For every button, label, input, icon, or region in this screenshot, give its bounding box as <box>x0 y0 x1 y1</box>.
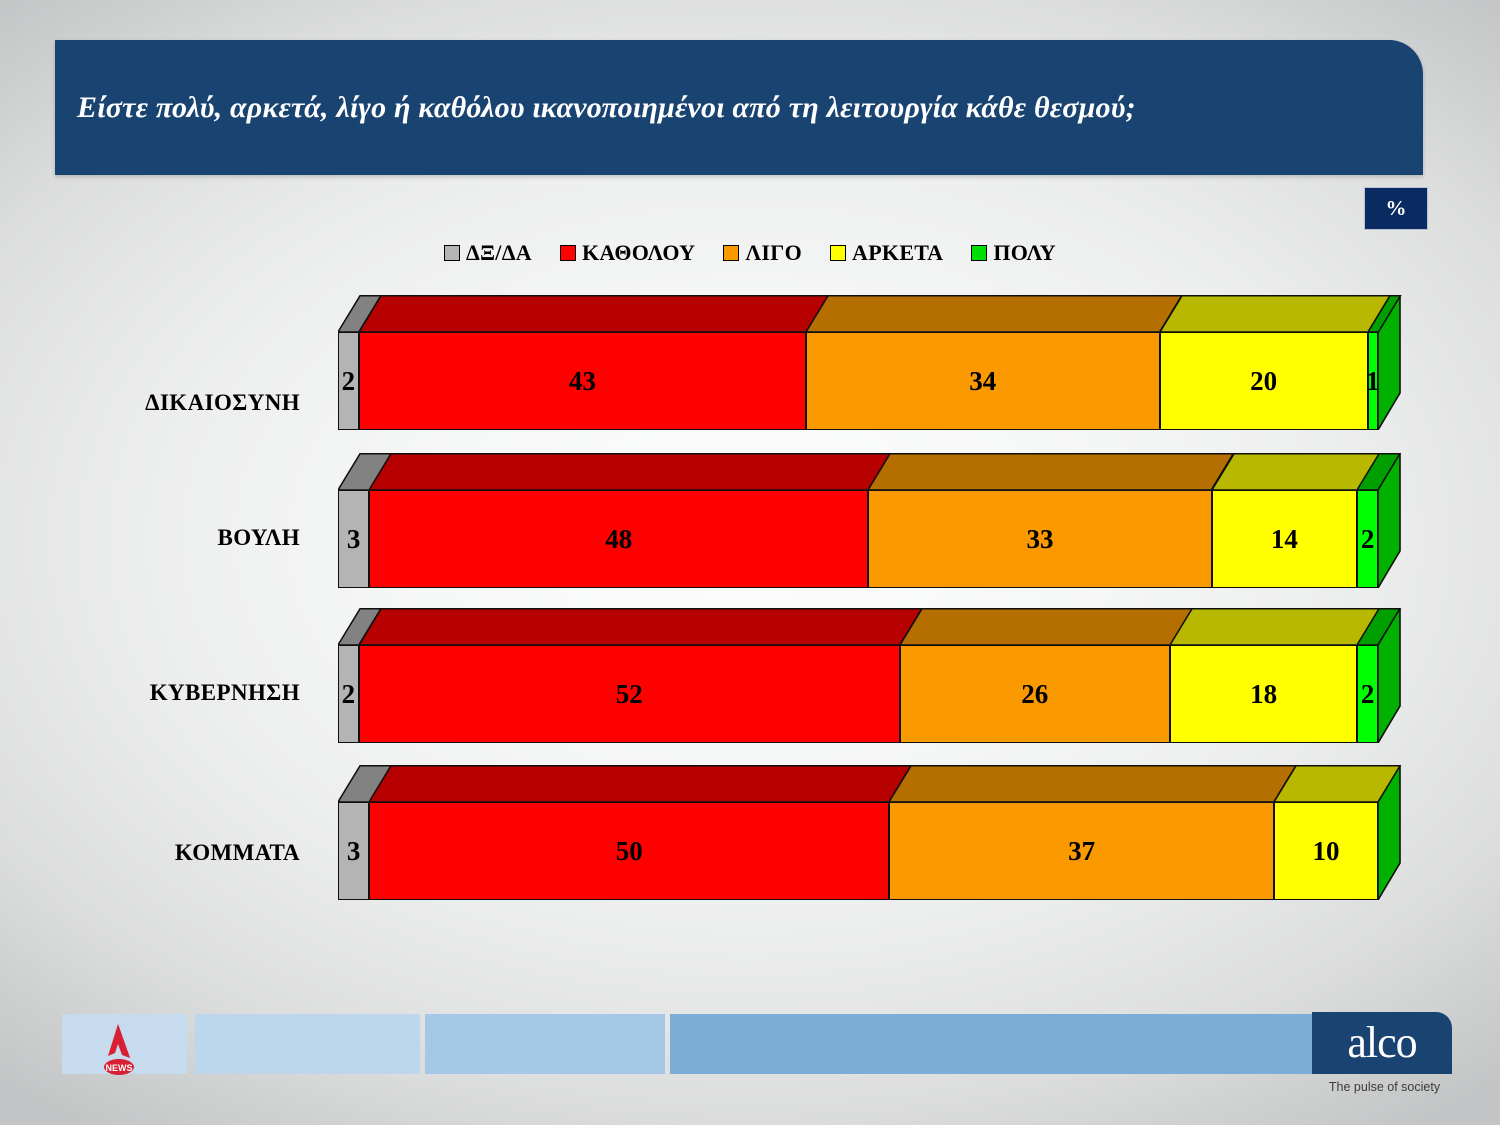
chart-row: ΒΟΥΛΗ34833142 <box>0 453 1500 608</box>
segment-value-label: 2 <box>1361 526 1375 553</box>
legend-item-ΑΡΚΕΤΑ[interactable]: ΑΡΚΕΤΑ <box>830 240 943 266</box>
segment-value-label: 50 <box>616 838 643 865</box>
category-label: ΔΙΚΑΙΟΣΥΝΗ <box>0 390 300 416</box>
segment-value-label: 3 <box>347 838 361 865</box>
segment-value-label: 10 <box>1313 838 1340 865</box>
segment-value-label: 34 <box>969 368 996 395</box>
segment-value-label: 26 <box>1021 681 1048 708</box>
bar-segment-top-face <box>359 295 830 333</box>
segment-value-label: 14 <box>1271 526 1298 553</box>
stacked-bar: 24334201 <box>338 295 1400 445</box>
title-banner: Είστε πολύ, αρκετά, λίγο ή καθόλου ικανο… <box>55 40 1423 175</box>
legend-item-ΚΑΘΟΛΟΥ[interactable]: ΚΑΘΟΛΟΥ <box>560 240 695 266</box>
footer-block-4 <box>670 1014 1312 1074</box>
segment-value-label: 43 <box>569 368 596 395</box>
bar-segment-ΛΙΓΟ[interactable]: 26 <box>900 645 1170 743</box>
bar-segment-ΑΡΚΕΤΑ[interactable]: 14 <box>1212 490 1358 588</box>
legend-swatch-icon <box>560 245 576 261</box>
category-label: ΚΟΜΜΑΤΑ <box>0 840 300 866</box>
bar-segment-top-face <box>889 765 1298 803</box>
bar-segment-ΛΙΓΟ[interactable]: 34 <box>806 332 1160 430</box>
legend-label: ΔΞ/ΔΑ <box>466 240 532 266</box>
page-title: Είστε πολύ, αρκετά, λίγο ή καθόλου ικανο… <box>55 91 1136 125</box>
legend-item-ΠΟΛΥ[interactable]: ΠΟΛΥ <box>971 240 1056 266</box>
segment-value-label: 2 <box>1361 681 1375 708</box>
bar-segment-ΚΑΘΟΛΟΥ[interactable]: 52 <box>359 645 900 743</box>
segment-value-label: 1 <box>1366 368 1380 395</box>
footer-block-2 <box>195 1014 420 1074</box>
bar-segment-top-face <box>900 608 1194 646</box>
bar-segment-ΔΞ/ΔΑ[interactable]: 2 <box>338 645 359 743</box>
bar-segment-ΚΑΘΟΛΟΥ[interactable]: 43 <box>359 332 806 430</box>
alco-tagline: The pulse of society <box>1312 1080 1457 1094</box>
bar-segment-ΠΟΛΥ[interactable]: 2 <box>1357 645 1378 743</box>
legend-label: ΚΑΘΟΛΟΥ <box>582 240 695 266</box>
legend-item-ΔΞ/ΔΑ[interactable]: ΔΞ/ΔΑ <box>444 240 532 266</box>
bar-segment-top-face <box>359 608 924 646</box>
stacked-bar-chart: ΔΙΚΑΙΟΣΥΝΗ24334201ΒΟΥΛΗ34833142ΚΥΒΕΡΝΗΣΗ… <box>0 295 1500 935</box>
stacked-bar: 3503710 <box>338 765 1400 915</box>
segment-value-label: 37 <box>1068 838 1095 865</box>
category-label: ΒΟΥΛΗ <box>0 525 300 551</box>
bar-segment-top-face <box>1170 608 1381 646</box>
bar-segment-ΚΑΘΟΛΟΥ[interactable]: 48 <box>369 490 868 588</box>
a-news-logo: NEWS <box>88 1022 152 1076</box>
percent-badge: % <box>1364 187 1428 230</box>
bar-segment-ΔΞ/ΔΑ[interactable]: 3 <box>338 490 369 588</box>
bar-segment-ΑΡΚΕΤΑ[interactable]: 10 <box>1274 802 1378 900</box>
bar-segment-ΑΡΚΕΤΑ[interactable]: 18 <box>1170 645 1357 743</box>
bar-segment-top-face <box>806 295 1184 333</box>
bar-segment-ΔΞ/ΔΑ[interactable]: 2 <box>338 332 359 430</box>
chart-legend: ΔΞ/ΔΑΚΑΘΟΛΟΥΛΙΓΟΑΡΚΕΤΑΠΟΛΥ <box>0 240 1500 266</box>
bar-segment-top-face <box>1274 765 1402 803</box>
bar-segment-top-face <box>1160 295 1392 333</box>
bar-segment-top-face <box>1212 453 1382 491</box>
segment-value-label: 52 <box>616 681 643 708</box>
legend-swatch-icon <box>830 245 846 261</box>
segment-value-label: 2 <box>342 368 356 395</box>
legend-swatch-icon <box>444 245 460 261</box>
bar-segment-ΛΙΓΟ[interactable]: 33 <box>868 490 1211 588</box>
segment-value-label: 3 <box>347 526 361 553</box>
chart-row: ΚΥΒΕΡΝΗΣΗ25226182 <box>0 608 1500 763</box>
bar-segment-ΔΞ/ΔΑ[interactable]: 3 <box>338 802 369 900</box>
bar-segment-ΑΡΚΕΤΑ[interactable]: 20 <box>1160 332 1368 430</box>
bar-segment-top-face <box>1368 295 1402 333</box>
segment-value-label: 33 <box>1026 526 1053 553</box>
alco-logo: alco <box>1312 1012 1452 1074</box>
category-label: ΚΥΒΕΡΝΗΣΗ <box>0 680 300 706</box>
bar-segment-top-face <box>868 453 1235 491</box>
segment-value-label: 48 <box>605 526 632 553</box>
bar-segment-ΠΟΛΥ[interactable]: 2 <box>1357 490 1378 588</box>
segment-value-label: 18 <box>1250 681 1277 708</box>
a-news-logo-icon: NEWS <box>88 1022 152 1076</box>
segment-value-label: 20 <box>1250 368 1277 395</box>
legend-label: ΛΙΓΟ <box>745 240 802 266</box>
bar-segment-top-face <box>1357 453 1402 491</box>
bar-segment-ΛΙΓΟ[interactable]: 37 <box>889 802 1274 900</box>
segment-value-label: 2 <box>342 681 356 708</box>
legend-swatch-icon <box>971 245 987 261</box>
legend-label: ΑΡΚΕΤΑ <box>852 240 943 266</box>
bar-segment-ΠΟΛΥ[interactable]: 1 <box>1368 332 1378 430</box>
legend-item-ΛΙΓΟ[interactable]: ΛΙΓΟ <box>723 240 802 266</box>
bar-segment-top-face <box>369 765 913 803</box>
chart-row: ΔΙΚΑΙΟΣΥΝΗ24334201 <box>0 295 1500 450</box>
bar-segment-top-face <box>1357 608 1402 646</box>
stacked-bar: 34833142 <box>338 453 1400 603</box>
chart-row: ΚΟΜΜΑΤΑ3503710 <box>0 765 1500 920</box>
legend-label: ΠΟΛΥ <box>993 240 1056 266</box>
svg-text:NEWS: NEWS <box>106 1063 133 1073</box>
alco-logo-text: alco <box>1347 1021 1416 1065</box>
bar-segment-top-face <box>369 453 892 491</box>
footer-block-3 <box>425 1014 665 1074</box>
bar-segment-ΚΑΘΟΛΟΥ[interactable]: 50 <box>369 802 889 900</box>
legend-swatch-icon <box>723 245 739 261</box>
stacked-bar: 25226182 <box>338 608 1400 758</box>
percent-badge-label: % <box>1386 196 1407 221</box>
